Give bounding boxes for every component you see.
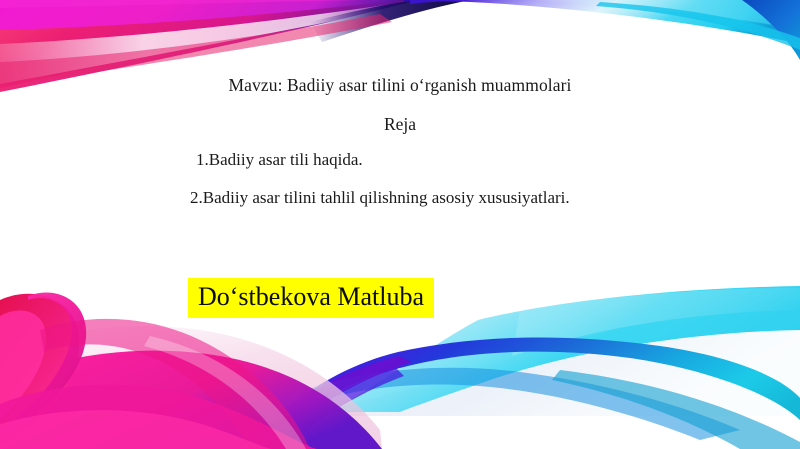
plan-item-1: 1.Badiiy asar tili haqida.	[196, 150, 363, 170]
presentation-slide: Mavzu: Badiiy asar tilini oʻrganish muam…	[0, 0, 800, 449]
plan-item-2: 2.Badiiy asar tilini tahlil qilishning a…	[190, 188, 570, 208]
slide-content: Mavzu: Badiiy asar tilini oʻrganish muam…	[0, 0, 800, 449]
author-name-highlight: Doʻstbekova Matluba	[188, 278, 434, 318]
section-heading-reja: Reja	[0, 114, 800, 135]
slide-title: Mavzu: Badiiy asar tilini oʻrganish muam…	[0, 75, 800, 96]
